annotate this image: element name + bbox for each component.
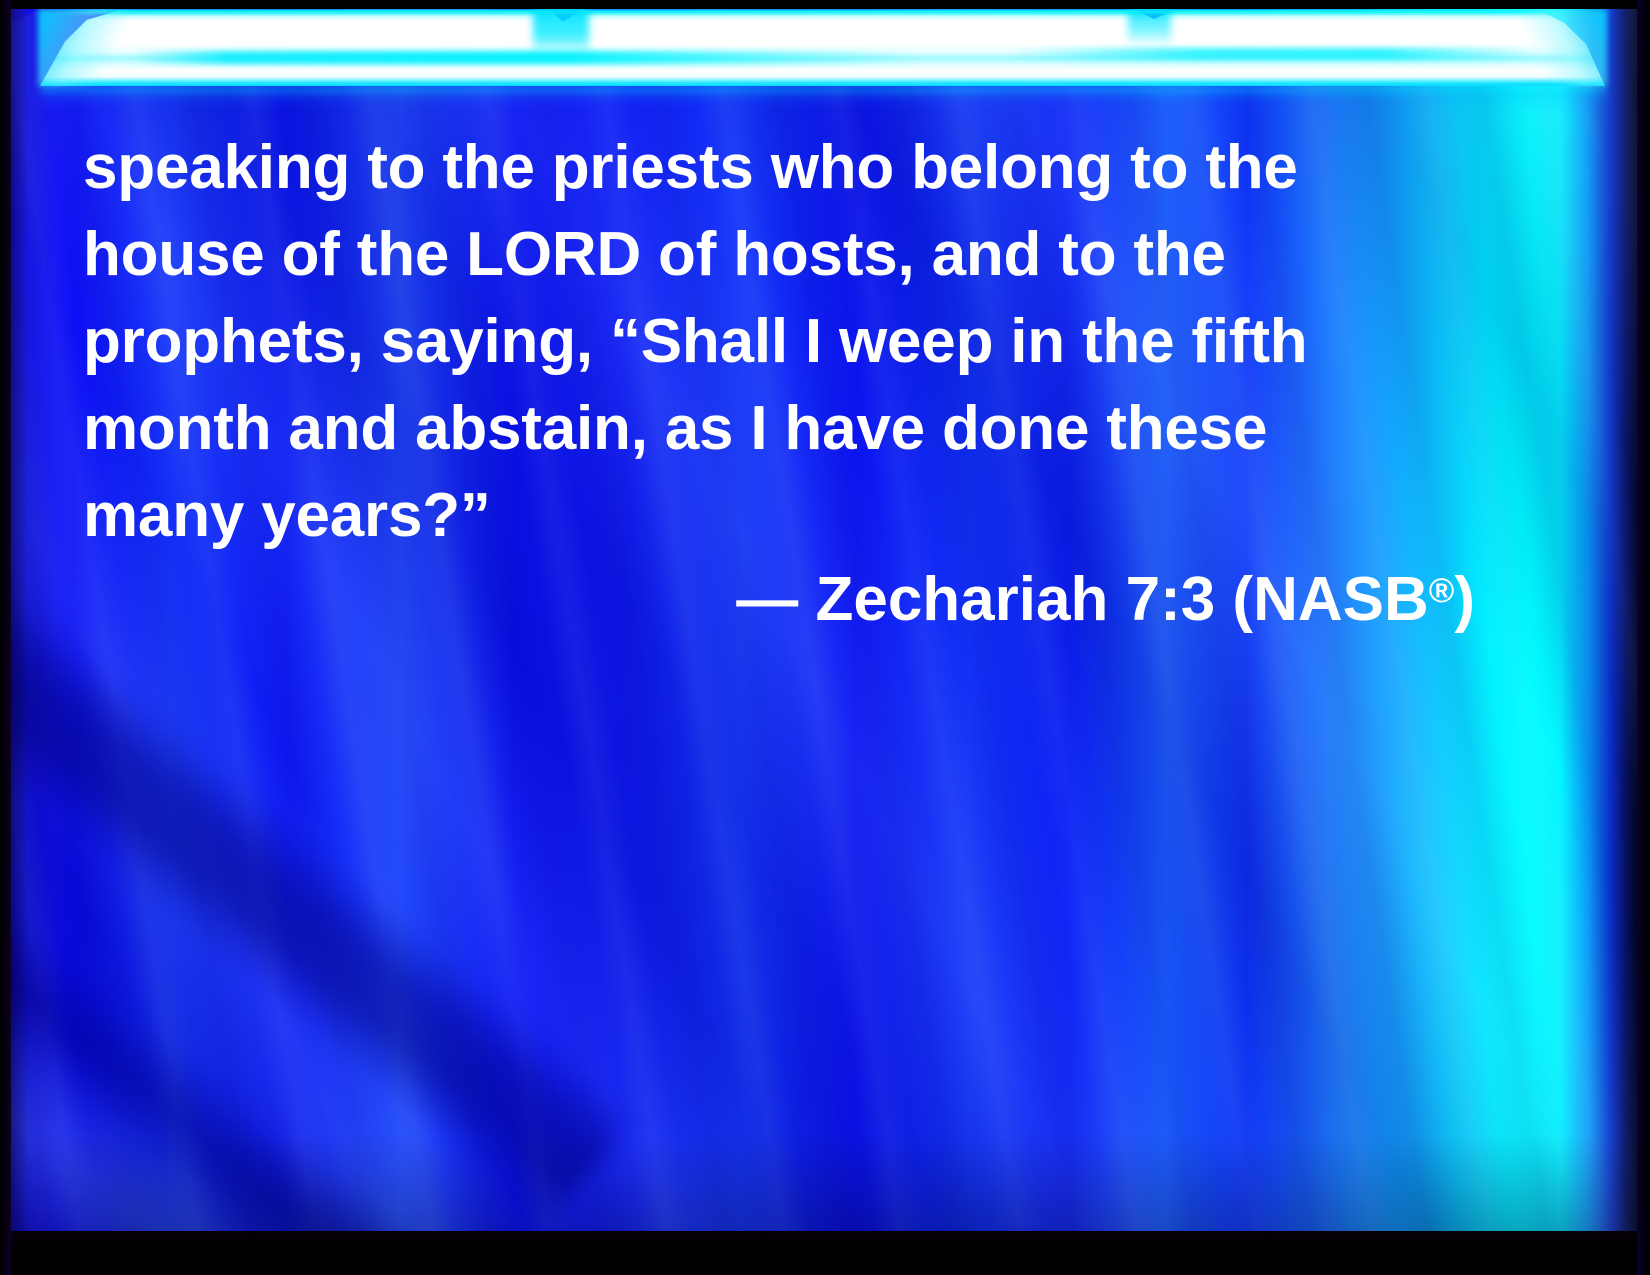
verse-text: speaking to the priests who belong to th… (83, 124, 1503, 559)
verse-line-1: speaking to the priests who belong to th… (83, 124, 1503, 211)
verse-attribution: — Zechariah 7:3 (NASB®) (83, 548, 1475, 643)
top-highlight-bar (40, 9, 1605, 86)
attribution-reference: Zechariah 7:3 (NASB (815, 565, 1428, 634)
attribution-em-dash: — (736, 565, 798, 634)
registered-trademark-icon: ® (1429, 572, 1455, 610)
frame-border-bottom (0, 1231, 1650, 1275)
highlight-top-edge (40, 9, 1605, 14)
highlight-notch-right (1128, 7, 1172, 46)
highlight-notch-left (533, 7, 589, 55)
frame-border-right (1637, 0, 1650, 1275)
verse-line-3: prophets, saying, “Shall I weep in the f… (83, 298, 1503, 385)
highlight-underglow (40, 86, 1605, 108)
highlight-right-wedge (1487, 9, 1607, 86)
verse-line-2: house of the LORD of hosts, and to the (83, 211, 1503, 298)
scripture-slide: speaking to the priests who belong to th… (0, 0, 1650, 1275)
highlight-cyan-band-left (134, 51, 917, 65)
frame-border-top (0, 0, 1650, 9)
attribution-spacer (798, 565, 815, 634)
verse-line-4: month and abstain, as I have done these (83, 385, 1503, 472)
verse-line-5: many years?” (83, 472, 1503, 559)
highlight-left-wedge (38, 9, 168, 86)
attribution-closing-paren: ) (1454, 565, 1475, 634)
highlight-cyan-band-right (1010, 48, 1542, 60)
